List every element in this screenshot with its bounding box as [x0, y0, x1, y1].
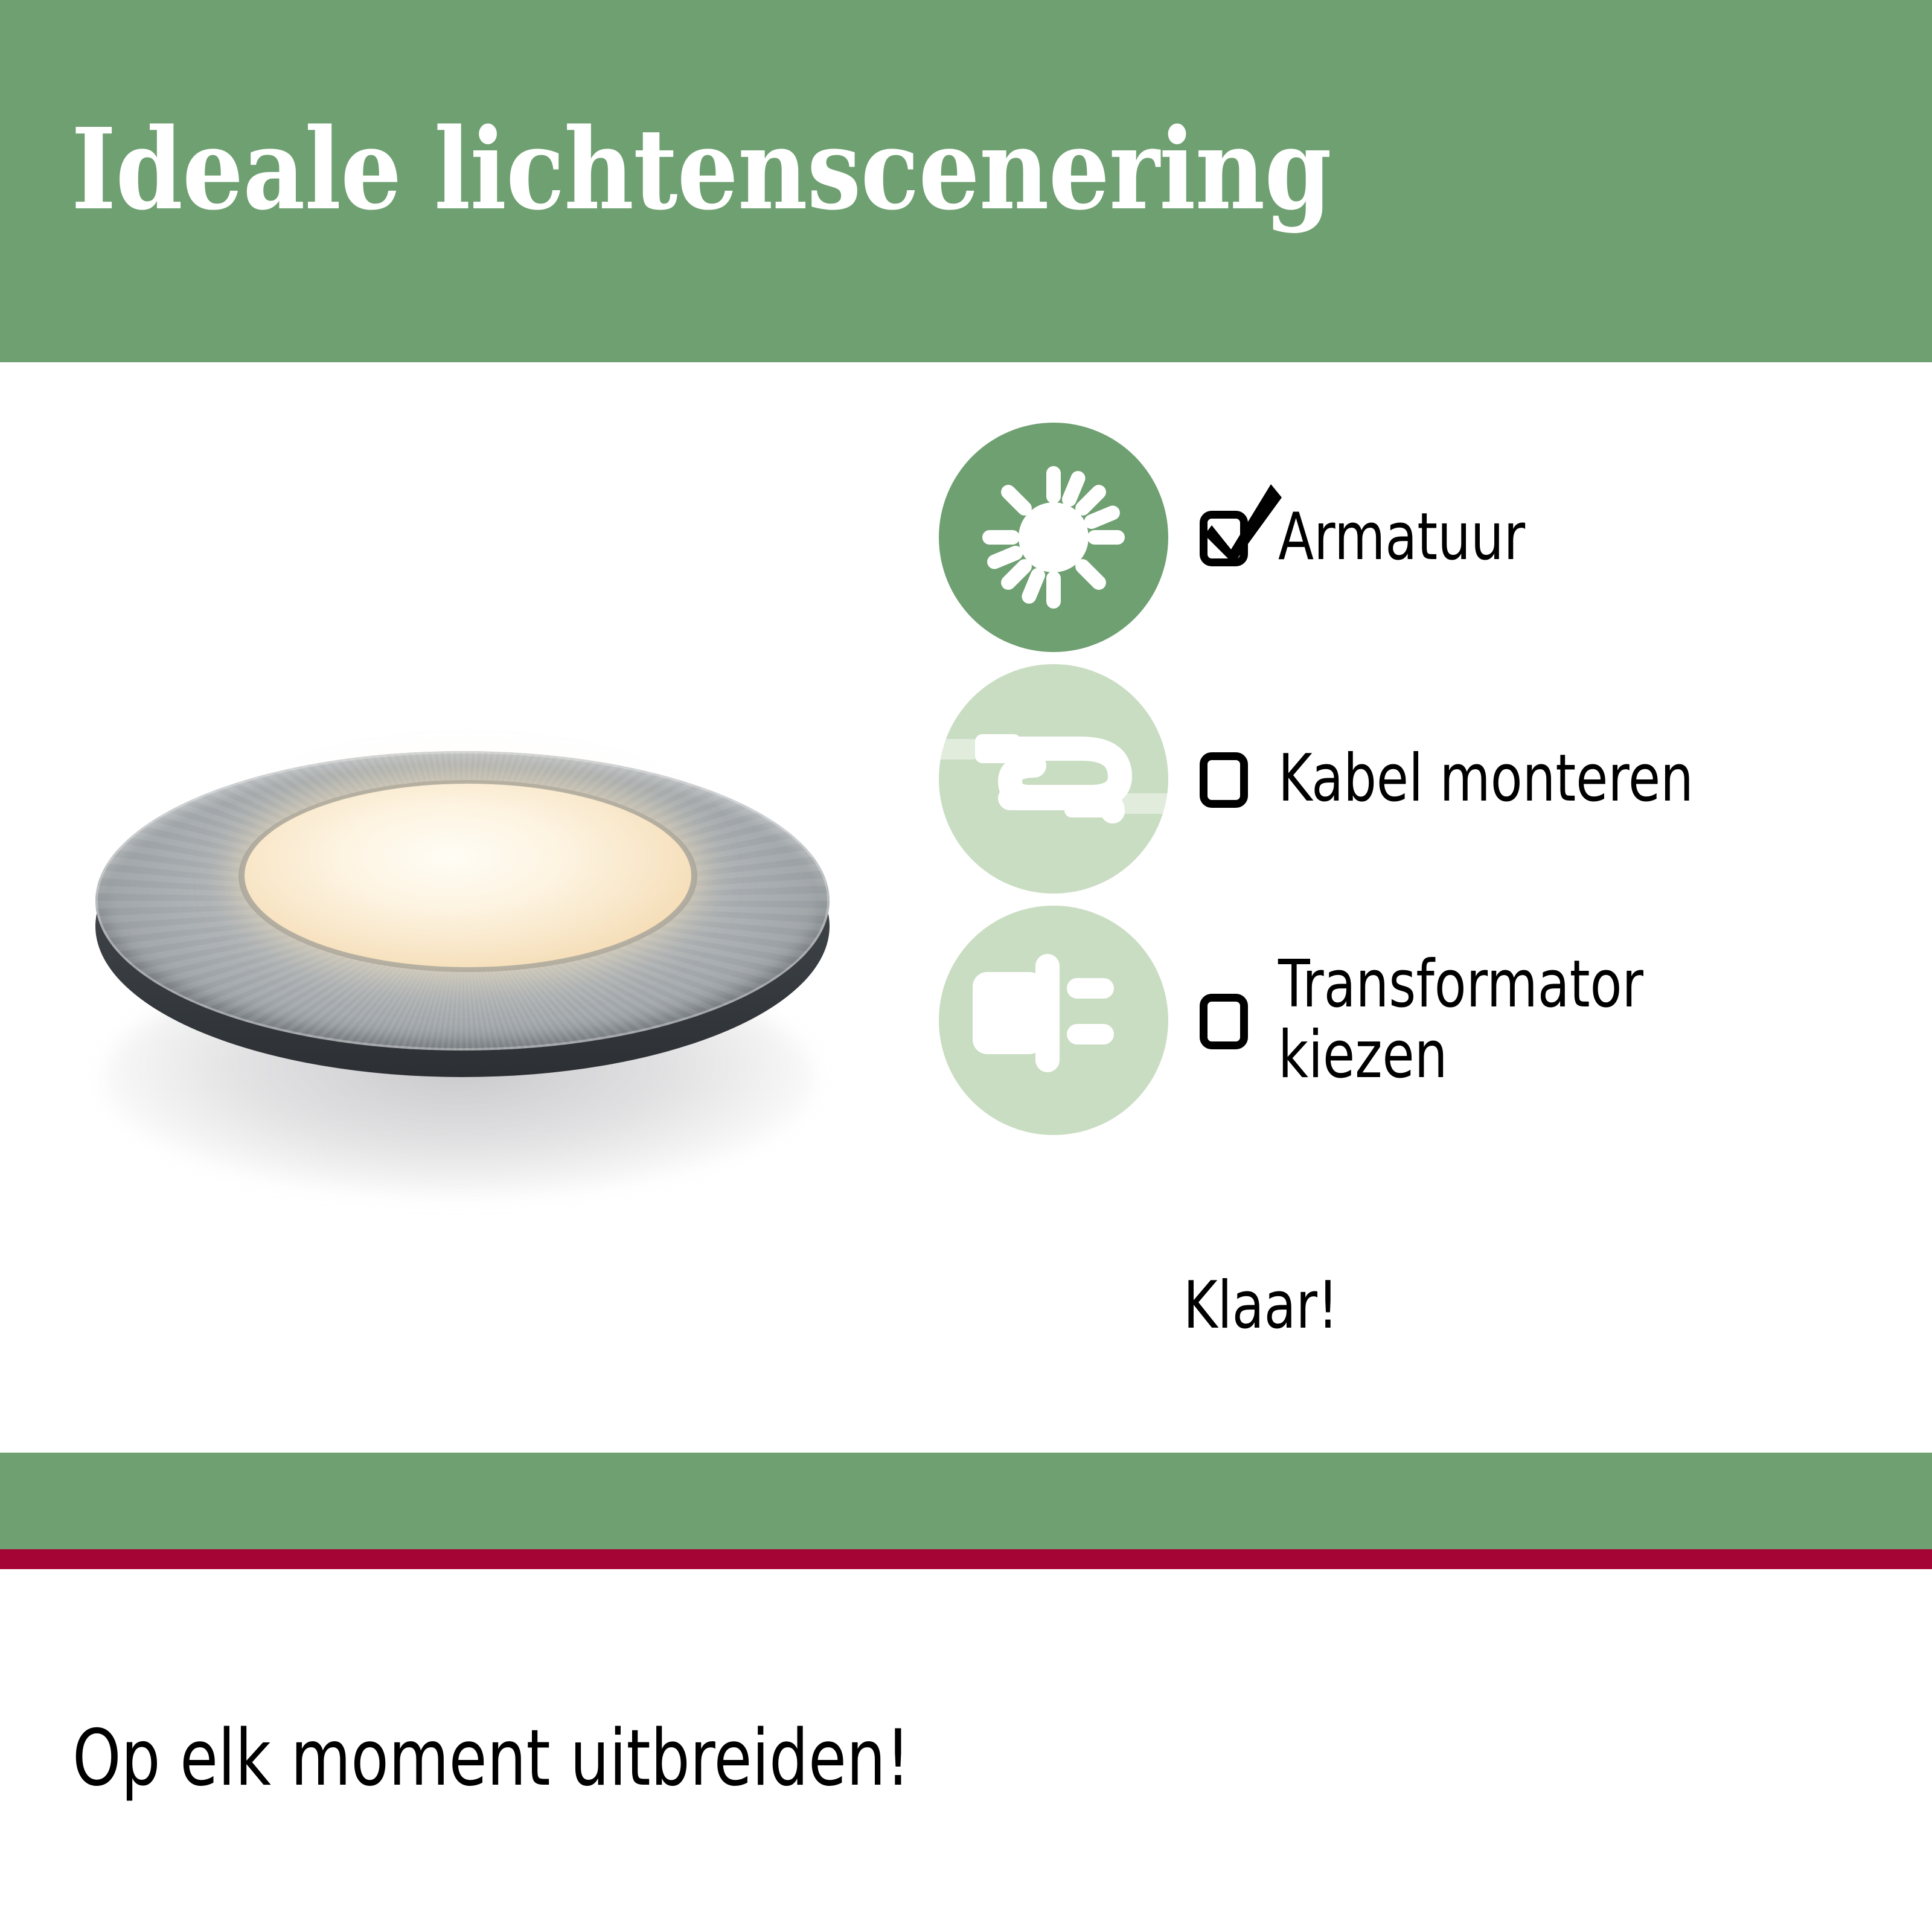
checkbox-unchecked[interactable]: [1200, 750, 1252, 808]
checklist-item-label: Kabel monteren: [1278, 744, 1694, 814]
product-image: [36, 700, 894, 1244]
footer-caption: Op elk moment uitbreiden!: [72, 1713, 910, 1803]
plug-icon: [939, 906, 1168, 1135]
cable-icon: [939, 664, 1168, 894]
setup-checklist: Armatuur Kabel monteren: [939, 417, 1893, 1141]
checklist-item-label: Armatuur: [1278, 502, 1525, 573]
checkbox-box: [1200, 752, 1248, 808]
green-divider-band: [0, 1453, 1932, 1549]
checkbox-unchecked[interactable]: [1200, 991, 1252, 1049]
sun-icon: [939, 423, 1168, 652]
checklist-item-text: Transformator kiezen: [1200, 950, 1735, 1090]
sun-icon-badge: [939, 423, 1168, 652]
crimson-divider-band: [0, 1549, 1932, 1569]
cable-icon-badge: [939, 664, 1168, 894]
checkbox-box: [1200, 994, 1248, 1049]
checklist-item-text: Armatuur: [1200, 502, 1587, 573]
checklist-item[interactable]: Armatuur: [939, 417, 1893, 658]
checklist-item[interactable]: Kabel monteren: [939, 658, 1893, 900]
checklist-done-text: Klaar!: [1183, 1268, 1339, 1343]
page-title: Ideale lichtenscenering: [71, 114, 1331, 225]
plug-icon-badge: [939, 906, 1168, 1135]
checkmark-icon: [1203, 482, 1282, 566]
checkbox-checked[interactable]: [1200, 508, 1252, 566]
checklist-item-text: Kabel monteren: [1200, 744, 1797, 814]
checklist-item[interactable]: Transformator kiezen: [939, 900, 1893, 1141]
infographic-page: Ideale lichtenscenering: [0, 0, 1932, 1932]
checklist-item-label: Transformator kiezen: [1278, 950, 1643, 1090]
warm-light-lens: [245, 784, 691, 967]
